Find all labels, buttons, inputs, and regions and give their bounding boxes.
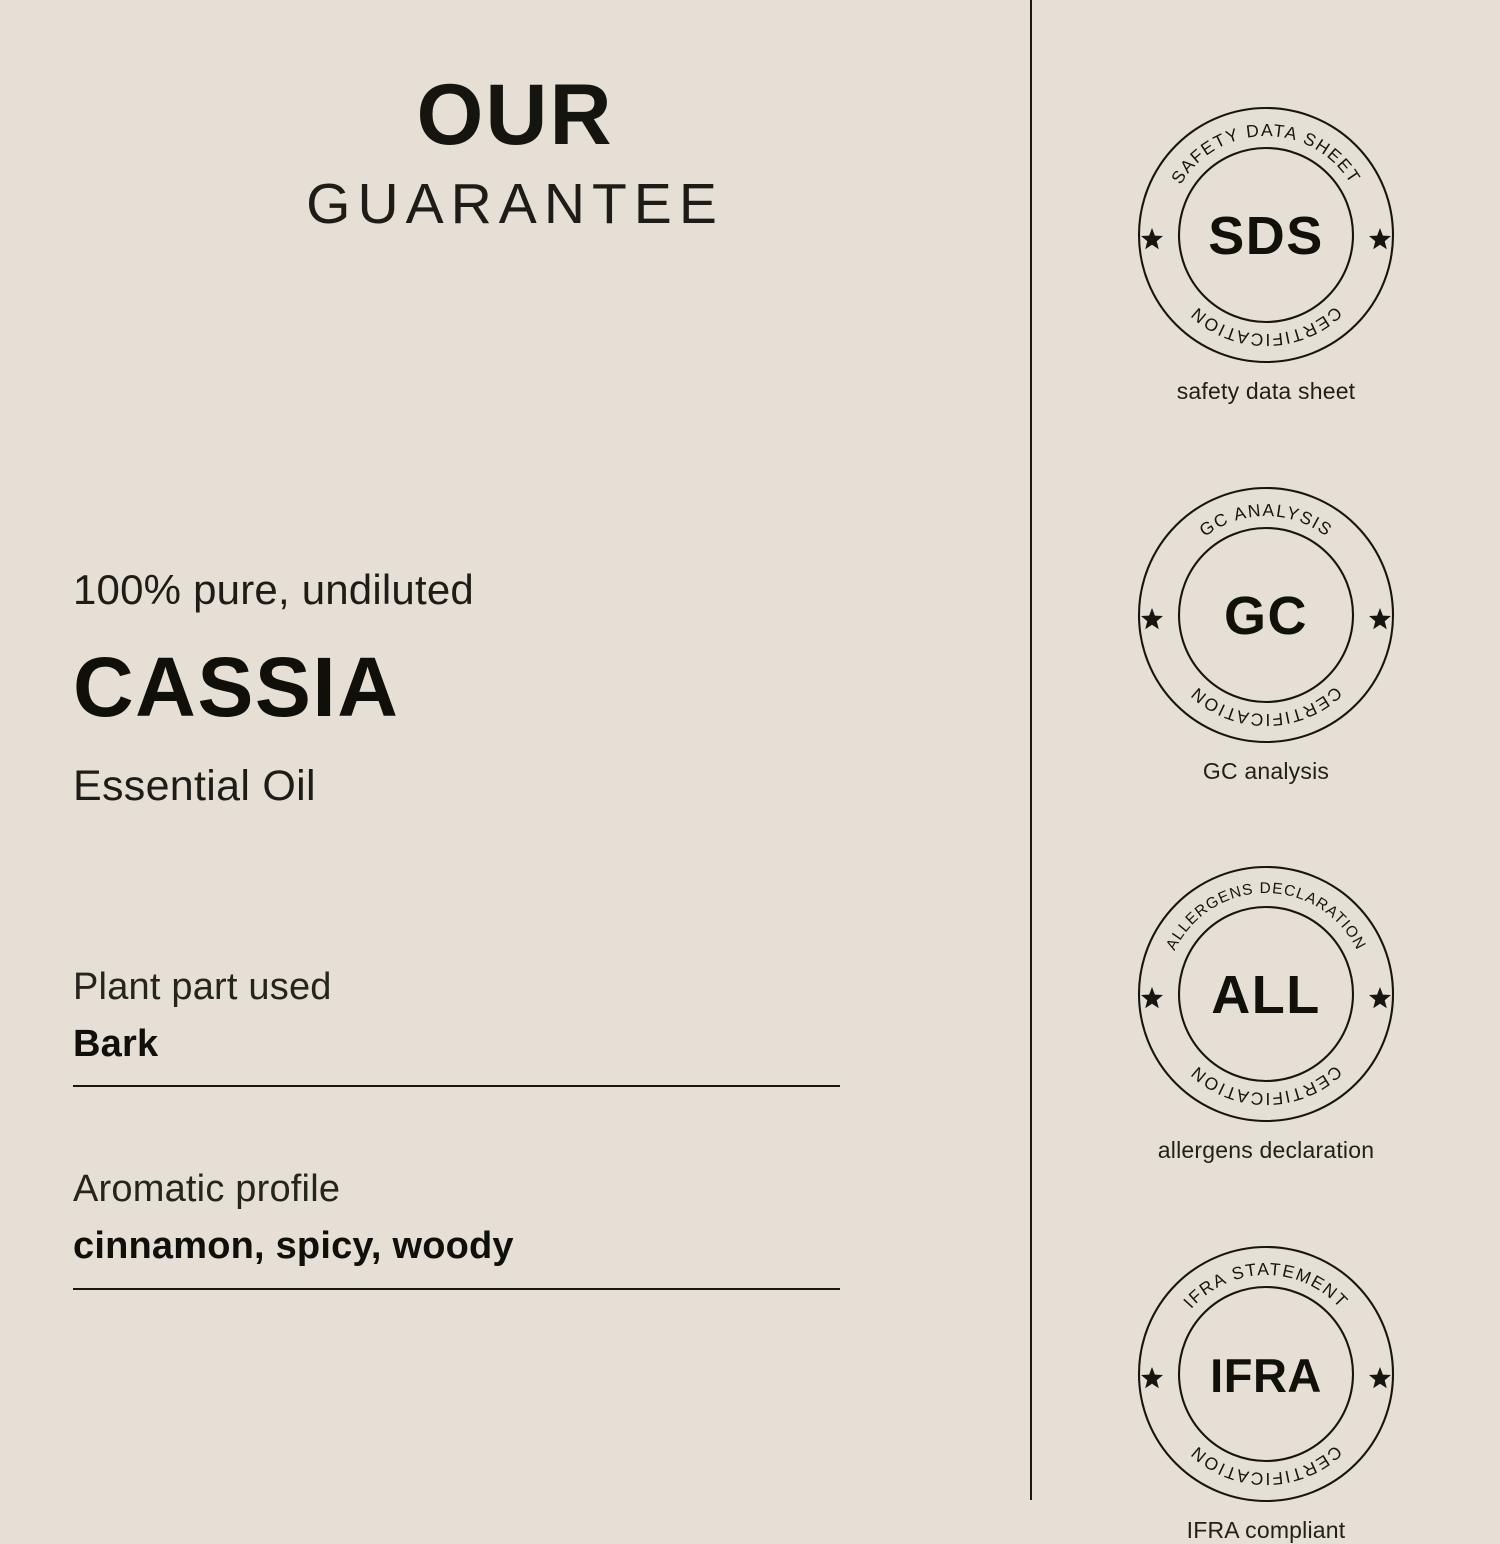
star-icon xyxy=(1369,228,1391,249)
spec-row-plant-part: Plant part used Bark xyxy=(73,966,840,1087)
seal-bottom-text: CERTIFICATION xyxy=(1186,1442,1346,1489)
seal-top-text: SAFETY DATA SHEET xyxy=(1167,120,1365,187)
star-icon xyxy=(1141,228,1163,249)
star-icon xyxy=(1369,1367,1391,1388)
seal-top-text: ALLERGENS DECLARATION xyxy=(1163,880,1369,953)
star-icon xyxy=(1141,1367,1163,1388)
badge-caption: IFRA compliant xyxy=(1032,1517,1500,1544)
certification-seal-icon: SAFETY DATA SHEET CERTIFICATION SDS xyxy=(1137,106,1395,364)
badge-caption: GC analysis xyxy=(1032,758,1500,786)
star-icon xyxy=(1369,987,1391,1008)
svg-text:CERTIFICATION: CERTIFICATION xyxy=(1186,682,1346,729)
certification-seal-icon: ALLERGENS DECLARATION CERTIFICATION ALL xyxy=(1137,865,1395,1123)
svg-text:CERTIFICATION: CERTIFICATION xyxy=(1186,1062,1346,1109)
spec-label: Plant part used xyxy=(73,966,840,1010)
product-block: 100% pure, undiluted CASSIA Essential Oi… xyxy=(73,567,873,810)
spec-row-aromatic-profile: Aromatic profile cinnamon, spicy, woody xyxy=(73,1168,840,1289)
star-icon xyxy=(1141,987,1163,1008)
seal-bottom-text: CERTIFICATION xyxy=(1186,682,1346,729)
badge-item-ifra: IFRA STATEMENT CERTIFICATION IFRA IFRA c… xyxy=(1032,1245,1500,1544)
badge-item-sds: SAFETY DATA SHEET CERTIFICATION SDS safe… xyxy=(1032,106,1500,406)
spec-value: cinnamon, spicy, woody xyxy=(73,1224,840,1270)
badge-item-gc: GC ANALYSIS CERTIFICATION GC GC analysis xyxy=(1032,486,1500,786)
guarantee-page: OUR GUARANTEE 100% pure, undiluted CASSI… xyxy=(0,0,1500,1500)
right-panel: SAFETY DATA SHEET CERTIFICATION SDS safe… xyxy=(1032,0,1500,1500)
seal-top-text: IFRA STATEMENT xyxy=(1179,1259,1352,1312)
svg-text:ALLERGENS DECLARATION: ALLERGENS DECLARATION xyxy=(1163,880,1369,953)
product-name: CASSIA xyxy=(73,642,873,733)
badge-caption: safety data sheet xyxy=(1032,378,1500,406)
page-title-line-2: GUARANTEE xyxy=(0,170,1030,240)
page-title: OUR GUARANTEE xyxy=(0,72,1030,240)
badge-item-allergens: ALLERGENS DECLARATION CERTIFICATION ALL … xyxy=(1032,865,1500,1165)
seal-top-text: GC ANALYSIS xyxy=(1196,499,1337,540)
svg-text:IFRA STATEMENT: IFRA STATEMENT xyxy=(1179,1259,1352,1312)
left-panel: OUR GUARANTEE 100% pure, undiluted CASSI… xyxy=(0,0,1030,1500)
page-title-line-1: OUR xyxy=(0,72,1030,158)
svg-text:SAFETY DATA SHEET: SAFETY DATA SHEET xyxy=(1167,120,1365,187)
spec-label: Aromatic profile xyxy=(73,1168,840,1212)
svg-text:GC ANALYSIS: GC ANALYSIS xyxy=(1196,499,1337,540)
svg-text:CERTIFICATION: CERTIFICATION xyxy=(1186,1442,1346,1489)
seal-acronym: ALL xyxy=(1211,965,1320,1025)
certification-seal-icon: GC ANALYSIS CERTIFICATION GC xyxy=(1137,486,1395,744)
certification-badge-list: SAFETY DATA SHEET CERTIFICATION SDS safe… xyxy=(1032,106,1500,1544)
product-type: Essential Oil xyxy=(73,763,873,810)
star-icon xyxy=(1141,608,1163,629)
badge-caption: allergens declaration xyxy=(1032,1137,1500,1165)
seal-acronym: IFRA xyxy=(1210,1349,1322,1402)
product-purity-text: 100% pure, undiluted xyxy=(73,567,873,613)
seal-bottom-text: CERTIFICATION xyxy=(1186,1062,1346,1109)
spec-value: Bark xyxy=(73,1022,840,1068)
spec-list: Plant part used Bark Aromatic profile ci… xyxy=(73,966,840,1290)
seal-acronym: GC xyxy=(1224,586,1308,646)
certification-seal-icon: IFRA STATEMENT CERTIFICATION IFRA xyxy=(1137,1245,1395,1503)
seal-acronym: SDS xyxy=(1208,206,1324,266)
star-icon xyxy=(1369,608,1391,629)
seal-bottom-text: CERTIFICATION xyxy=(1186,303,1346,350)
svg-text:CERTIFICATION: CERTIFICATION xyxy=(1186,303,1346,350)
